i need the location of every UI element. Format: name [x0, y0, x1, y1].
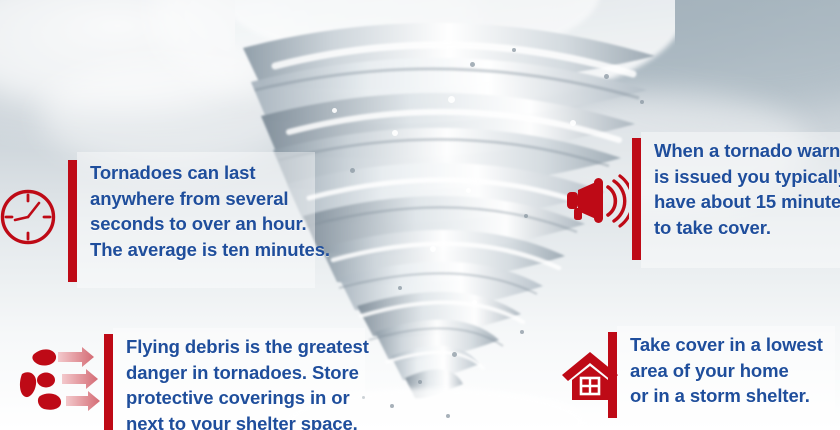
accent-bar: [608, 332, 617, 418]
debris-speck: [448, 96, 455, 103]
fact-line: Take cover in a lowest: [630, 332, 823, 358]
fact-line: When a tornado warning: [654, 138, 840, 164]
fact-line: to take cover.: [654, 215, 840, 241]
fact-line: The average is ten minutes.: [90, 237, 330, 263]
fact-shelter: Take cover in a lowest area of your home…: [608, 332, 823, 418]
debris-speck: [398, 286, 402, 290]
fact-duration-text: Tornadoes can last anywhere from several…: [77, 160, 330, 262]
fact-debris-text: Flying debris is the greatest danger in …: [113, 334, 369, 430]
accent-bar: [104, 334, 113, 430]
fact-line: area of your home: [630, 358, 823, 384]
fact-warning-text: When a tornado warning is issued you typ…: [641, 138, 840, 240]
debris-speck: [446, 414, 450, 418]
debris-speck: [640, 100, 644, 104]
debris-speck: [466, 188, 471, 193]
debris-speck: [392, 130, 398, 136]
fact-line: seconds to over an hour.: [90, 211, 330, 237]
debris-speck: [390, 404, 394, 408]
debris-speck: [570, 120, 576, 126]
debris-speck: [520, 330, 524, 334]
debris-speck: [524, 214, 528, 218]
fact-line: Tornadoes can last: [90, 160, 330, 186]
fact-debris: Flying debris is the greatest danger in …: [104, 334, 369, 430]
fact-line: Flying debris is the greatest: [126, 334, 369, 360]
debris-speck: [332, 108, 337, 113]
fact-line: danger in tornadoes. Store: [126, 360, 369, 386]
fact-line: or in a storm shelter.: [630, 383, 823, 409]
fact-shelter-text: Take cover in a lowest area of your home…: [617, 332, 823, 409]
fact-warning: When a tornado warning is issued you typ…: [632, 138, 840, 260]
debris-speck: [512, 48, 516, 52]
fact-line: is issued you typically: [654, 164, 840, 190]
infographic-canvas: Tornadoes can last anywhere from several…: [0, 0, 840, 430]
debris-speck: [418, 380, 422, 384]
fact-line: protective coverings in or: [126, 385, 369, 411]
fact-duration: Tornadoes can last anywhere from several…: [68, 160, 330, 282]
debris-speck: [472, 300, 477, 305]
fact-line: anywhere from several: [90, 186, 330, 212]
debris-speck: [430, 246, 436, 252]
debris-speck: [350, 168, 355, 173]
accent-bar: [68, 160, 77, 282]
flying-debris-icon: [18, 340, 108, 412]
fact-line: next to your shelter space.: [126, 411, 369, 430]
fact-line: have about 15 minutes: [654, 189, 840, 215]
cloud-wisp: [40, 60, 300, 170]
debris-speck: [470, 62, 475, 67]
debris-speck: [452, 352, 457, 357]
megaphone-icon: [563, 170, 629, 232]
debris-speck: [604, 74, 609, 79]
accent-bar: [632, 138, 641, 260]
clock-icon: [0, 186, 59, 248]
